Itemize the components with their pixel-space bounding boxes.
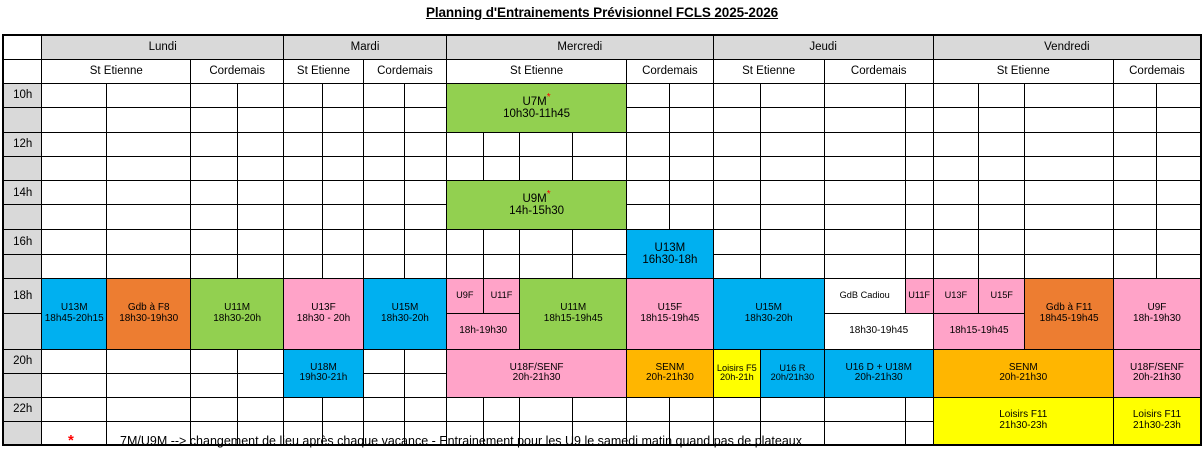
slot-row-12h-a: 12h xyxy=(3,132,1201,156)
cell-jeudi-co-2[interactable] xyxy=(905,180,933,205)
cell-vendredi-se-1[interactable] xyxy=(933,83,978,108)
event-mercredi-u9f-u11f-time[interactable]: 18h-19h30 xyxy=(446,314,519,350)
slot-row-18h-a: 18h U13M 18h45-20h15 Gdb à F8 18h30-19h3… xyxy=(3,279,1201,314)
cell-lundi-co-2[interactable] xyxy=(237,230,283,255)
cell-jeudi-co-1[interactable] xyxy=(824,205,905,230)
cell-lundi-se-2[interactable] xyxy=(107,230,191,255)
cell-lundi-co-2[interactable] xyxy=(237,108,283,133)
cell-vendredi-se-2[interactable] xyxy=(979,108,1025,133)
cell-mardi-co-2[interactable] xyxy=(404,83,446,108)
cell-vendredi-se-3[interactable] xyxy=(1025,156,1113,180)
cell-lundi-co-1[interactable] xyxy=(191,373,237,397)
cell-mardi-se-1[interactable] xyxy=(284,180,323,205)
corner-cell xyxy=(3,35,42,59)
day-header-mardi: Mardi xyxy=(284,35,447,59)
cell-mercredi-se-4[interactable] xyxy=(573,230,627,255)
cell-lundi-co-1[interactable] xyxy=(191,132,237,156)
cell-lundi-co-1[interactable] xyxy=(191,349,237,373)
cell-mardi-co-1[interactable] xyxy=(363,156,404,180)
cell-mercredi-co-2[interactable] xyxy=(670,83,713,108)
cell-mardi-co-2[interactable] xyxy=(404,254,446,279)
loc-lundi-cordemais: Cordemais xyxy=(191,59,284,83)
cell-lundi-co-2[interactable] xyxy=(237,156,283,180)
cell-vendredi-co-1[interactable] xyxy=(1113,205,1156,230)
loc-jeudi-cordemais: Cordemais xyxy=(824,59,933,83)
cell-lundi-se-2[interactable] xyxy=(107,180,191,205)
cell-mardi-se-1[interactable] xyxy=(284,254,323,279)
cell-mercredi-se-2[interactable] xyxy=(483,397,520,421)
cell-mardi-co-2[interactable] xyxy=(404,397,446,421)
cell-vendredi-co-1[interactable] xyxy=(1113,132,1156,156)
cell-jeudi-se-2[interactable] xyxy=(761,397,825,421)
cell-lundi-co-2[interactable] xyxy=(237,205,283,230)
cell-vendredi-co-1[interactable] xyxy=(1113,83,1156,108)
cell-mardi-co-1[interactable] xyxy=(363,205,404,230)
cell-mardi-co-1[interactable] xyxy=(363,254,404,279)
event-mercredi-u18f-senf[interactable]: U18F/SENF 20h-21h30 xyxy=(446,349,626,397)
time-label-22h: 22h xyxy=(3,397,42,421)
day-header-lundi: Lundi xyxy=(42,35,284,59)
event-jeudi-loisirs-f5[interactable]: Loisirs F5 20h-21h xyxy=(713,349,760,397)
cell-mardi-co-2[interactable] xyxy=(404,349,446,373)
cell-mardi-se-2[interactable] xyxy=(322,397,363,421)
slot-row-12h-b xyxy=(3,156,1201,180)
cell-lundi-se-2[interactable] xyxy=(107,132,191,156)
loc-mardi-cordemais: Cordemais xyxy=(363,59,446,83)
cell-mardi-co-2[interactable] xyxy=(404,108,446,133)
page-title: Planning d'Entrainements Prévisionnel FC… xyxy=(0,0,1204,20)
cell-mardi-co-1[interactable] xyxy=(363,83,404,108)
event-mercredi-u9f[interactable]: U9F xyxy=(446,279,483,314)
cell-lundi-se-1[interactable] xyxy=(42,108,107,133)
event-jeudi-u16r[interactable]: U16 R 20h/21h30 xyxy=(761,349,825,397)
cell-mardi-se-1[interactable] xyxy=(284,156,323,180)
cell-lundi-co-1[interactable] xyxy=(191,205,237,230)
cell-lundi-co-2[interactable] xyxy=(237,349,283,373)
cell-jeudi-se-2[interactable] xyxy=(761,254,825,279)
asterisk-marker-u9m: * xyxy=(547,189,551,200)
cell-jeudi-se-1[interactable] xyxy=(713,83,760,108)
slot-row-22h-a: 22h Loisirs F11 21h30-23h xyxy=(3,397,1201,421)
cell-mercredi-se-4[interactable] xyxy=(573,132,627,156)
cell-mercredi-co-1[interactable] xyxy=(627,156,670,180)
cell-mercredi-se-3[interactable] xyxy=(520,397,573,421)
cell-mercredi-se-4[interactable] xyxy=(573,156,627,180)
cell-jeudi-co-2[interactable] xyxy=(905,254,933,279)
cell-mercredi-se-3[interactable] xyxy=(520,132,573,156)
event-vendredi-u13f-u15f-time[interactable]: 18h15-19h45 xyxy=(933,314,1025,350)
cell-vendredi-se-2[interactable] xyxy=(979,180,1025,205)
event-lundi-u11m[interactable]: U11M 18h30-20h xyxy=(191,279,284,349)
schedule-table: Lundi Mardi Mercredi Jeudi Vendredi St E… xyxy=(2,34,1202,446)
cell-vendredi-co-2[interactable] xyxy=(1157,108,1201,133)
cell-vendredi-co-2[interactable] xyxy=(1157,83,1201,108)
cell-vendredi-co-2[interactable] xyxy=(1157,254,1201,279)
cell-mardi-se-1[interactable] xyxy=(284,205,323,230)
cell-mercredi-co-1[interactable] xyxy=(627,83,670,108)
event-mercredi-u11f[interactable]: U11F xyxy=(483,279,520,314)
event-vendredi-u18f-senf[interactable]: U18F/SENF 20h-21h30 xyxy=(1113,349,1201,397)
cell-mercredi-co-2[interactable] xyxy=(670,108,713,133)
cell-mercredi-co-1[interactable] xyxy=(627,132,670,156)
event-jeudi-gdb-cadiou[interactable]: GdB Cadiou xyxy=(824,279,905,314)
cell-mercredi-se-4[interactable] xyxy=(573,397,627,421)
cell-vendredi-co-1[interactable] xyxy=(1113,108,1156,133)
cell-lundi-co-2[interactable] xyxy=(237,83,283,108)
schedule-page: Planning d'Entrainements Prévisionnel FC… xyxy=(0,0,1204,462)
cell-vendredi-se-3[interactable] xyxy=(1025,180,1113,205)
slot-row-14h-a: 14h U9M* 14h-15h30 xyxy=(3,180,1201,205)
cell-mardi-se-1[interactable] xyxy=(284,83,323,108)
cell-lundi-co-1[interactable] xyxy=(191,230,237,255)
event-jeudi-u11f[interactable]: U11F xyxy=(905,279,933,314)
event-mercredi-senm[interactable]: SENM 20h-21h30 xyxy=(627,349,713,397)
cell-lundi-co-1[interactable] xyxy=(191,83,237,108)
cell-vendredi-se-1[interactable] xyxy=(933,108,978,133)
cell-mercredi-se-2[interactable] xyxy=(483,132,520,156)
cell-jeudi-co-1[interactable] xyxy=(824,397,905,421)
cell-vendredi-co-2[interactable] xyxy=(1157,132,1201,156)
cell-vendredi-co-2[interactable] xyxy=(1157,230,1201,255)
cell-jeudi-se-1[interactable] xyxy=(713,156,760,180)
cell-jeudi-co-1[interactable] xyxy=(824,156,905,180)
cell-mercredi-se-1[interactable] xyxy=(446,397,483,421)
asterisk-marker-u7m: * xyxy=(547,92,551,103)
corner-cell-2 xyxy=(3,59,42,83)
time-blank-6 xyxy=(3,373,42,397)
cell-lundi-se-1[interactable] xyxy=(42,205,107,230)
cell-lundi-se-1[interactable] xyxy=(42,373,107,397)
event-lundi-gdb-f8[interactable]: Gdb à F8 18h30-19h30 xyxy=(107,279,191,349)
cell-mercredi-se-4[interactable] xyxy=(573,254,627,279)
cell-vendredi-se-1[interactable] xyxy=(933,132,978,156)
cell-jeudi-se-2[interactable] xyxy=(761,156,825,180)
cell-mardi-co-1[interactable] xyxy=(363,349,404,373)
cell-mercredi-se-1[interactable] xyxy=(446,156,483,180)
cell-mardi-se-2[interactable] xyxy=(322,108,363,133)
day-header-jeudi: Jeudi xyxy=(713,35,933,59)
cell-jeudi-se-1[interactable] xyxy=(713,254,760,279)
cell-mercredi-co-1[interactable] xyxy=(627,205,670,230)
cell-lundi-se-2[interactable] xyxy=(107,373,191,397)
cell-jeudi-co-1[interactable] xyxy=(824,132,905,156)
cell-jeudi-co-2[interactable] xyxy=(905,205,933,230)
cell-mercredi-co-2[interactable] xyxy=(670,180,713,205)
cell-lundi-co-2[interactable] xyxy=(237,254,283,279)
cell-mardi-co-2[interactable] xyxy=(404,205,446,230)
cell-mercredi-se-2[interactable] xyxy=(483,156,520,180)
event-vendredi-u15f[interactable]: U15F xyxy=(979,279,1025,314)
cell-mardi-co-1[interactable] xyxy=(363,132,404,156)
event-mardi-u18m[interactable]: U18M 19h30-21h xyxy=(284,349,364,397)
cell-jeudi-co-1[interactable] xyxy=(824,108,905,133)
cell-vendredi-se-3[interactable] xyxy=(1025,108,1113,133)
loc-mardi-st-etienne: St Etienne xyxy=(284,59,364,83)
day-header-vendredi: Vendredi xyxy=(933,35,1201,59)
time-blank-5 xyxy=(3,314,42,350)
cell-vendredi-se-3[interactable] xyxy=(1025,132,1113,156)
cell-mardi-se-2[interactable] xyxy=(322,83,363,108)
event-vendredi-u9f[interactable]: U9F 18h-19h30 xyxy=(1113,279,1201,349)
cell-mercredi-se-3[interactable] xyxy=(520,156,573,180)
cell-vendredi-co-2[interactable] xyxy=(1157,180,1201,205)
cell-mardi-co-2[interactable] xyxy=(404,132,446,156)
cell-mardi-se-2[interactable] xyxy=(322,254,363,279)
time-label-20h: 20h xyxy=(3,349,42,373)
cell-vendredi-se-2[interactable] xyxy=(979,205,1025,230)
cell-lundi-co-1[interactable] xyxy=(191,108,237,133)
cell-mardi-se-2[interactable] xyxy=(322,180,363,205)
cell-lundi-co-1[interactable] xyxy=(191,156,237,180)
event-mardi-u15m[interactable]: U15M 18h30-20h xyxy=(363,279,446,349)
cell-vendredi-se-1[interactable] xyxy=(933,230,978,255)
cell-jeudi-se-2[interactable] xyxy=(761,83,825,108)
day-header-mercredi: Mercredi xyxy=(446,35,713,59)
cell-mardi-se-2[interactable] xyxy=(322,230,363,255)
cell-lundi-co-2[interactable] xyxy=(237,132,283,156)
cell-mercredi-co-2[interactable] xyxy=(670,205,713,230)
cell-mercredi-se-2[interactable] xyxy=(483,254,520,279)
slot-row-20h-a: 20h U18M 19h30-21h U18F/SENF 20h-21h30 xyxy=(3,349,1201,373)
cell-mardi-co-1[interactable] xyxy=(363,230,404,255)
time-blank-4 xyxy=(3,254,42,279)
cell-mardi-se-2[interactable] xyxy=(322,205,363,230)
event-jeudi-u16d-u18m[interactable]: U16 D + U18M 20h-21h30 xyxy=(824,349,933,397)
cell-vendredi-se-1[interactable] xyxy=(933,254,978,279)
event-mercredi-u13m[interactable]: U13M 16h30-18h xyxy=(627,230,713,279)
time-blank-3 xyxy=(3,205,42,230)
cell-jeudi-co-2[interactable] xyxy=(905,83,933,108)
cell-mardi-se-1[interactable] xyxy=(284,230,323,255)
cell-jeudi-se-2[interactable] xyxy=(761,230,825,255)
event-jeudi-gdb-u11f-time[interactable]: 18h30-19h45 xyxy=(824,314,933,350)
time-label-12h: 12h xyxy=(3,132,42,156)
loc-mercredi-st-etienne: St Etienne xyxy=(446,59,626,83)
event-mercredi-u7m[interactable]: U7M* 10h30-11h45 xyxy=(446,83,626,132)
cell-mercredi-se-3[interactable] xyxy=(520,254,573,279)
event-mercredi-u9m[interactable]: U9M* 14h-15h30 xyxy=(446,180,626,229)
event-mercredi-u11m[interactable]: U11M 18h15-19h45 xyxy=(520,279,627,349)
cell-mardi-co-1[interactable] xyxy=(363,108,404,133)
cell-jeudi-co-2[interactable] xyxy=(905,397,933,421)
cell-lundi-se-2[interactable] xyxy=(107,83,191,108)
loc-lundi-st-etienne: St Etienne xyxy=(42,59,191,83)
cell-mardi-se-1[interactable] xyxy=(284,132,323,156)
cell-mardi-co-2[interactable] xyxy=(404,230,446,255)
footnote: * 7M/U9M --> changement de lieu après ch… xyxy=(0,430,1204,460)
loc-mercredi-cordemais: Cordemais xyxy=(627,59,713,83)
cell-jeudi-se-2[interactable] xyxy=(761,132,825,156)
time-label-10h: 10h xyxy=(3,83,42,108)
loc-jeudi-st-etienne: St Etienne xyxy=(713,59,824,83)
cell-vendredi-se-3[interactable] xyxy=(1025,230,1113,255)
cell-jeudi-co-2[interactable] xyxy=(905,132,933,156)
cell-vendredi-co-1[interactable] xyxy=(1113,254,1156,279)
cell-lundi-se-1[interactable] xyxy=(42,254,107,279)
cell-lundi-se-2[interactable] xyxy=(107,254,191,279)
cell-vendredi-se-2[interactable] xyxy=(979,254,1025,279)
time-label-14h: 14h xyxy=(3,180,42,205)
cell-lundi-se-1[interactable] xyxy=(42,156,107,180)
cell-mardi-se-1[interactable] xyxy=(284,108,323,133)
cell-mercredi-se-2[interactable] xyxy=(483,230,520,255)
footnote-text: 7M/U9M --> changement de lieu après chaq… xyxy=(120,434,802,448)
cell-mercredi-co-1[interactable] xyxy=(627,397,670,421)
cell-lundi-se-2[interactable] xyxy=(107,349,191,373)
cell-jeudi-se-1[interactable] xyxy=(713,397,760,421)
time-blank-2 xyxy=(3,156,42,180)
cell-vendredi-co-2[interactable] xyxy=(1157,156,1201,180)
cell-jeudi-se-2[interactable] xyxy=(761,108,825,133)
event-vendredi-u13f[interactable]: U13F xyxy=(933,279,978,314)
cell-jeudi-se-1[interactable] xyxy=(713,108,760,133)
cell-mercredi-co-2[interactable] xyxy=(670,156,713,180)
event-mercredi-u15f[interactable]: U15F 18h15-19h45 xyxy=(627,279,713,349)
time-label-16h: 16h xyxy=(3,230,42,255)
event-vendredi-gdb-f11[interactable]: Gdb à F11 18h45-19h45 xyxy=(1025,279,1113,349)
cell-jeudi-co-1[interactable] xyxy=(824,230,905,255)
cell-jeudi-se-1[interactable] xyxy=(713,230,760,255)
loc-vendredi-cordemais: Cordemais xyxy=(1113,59,1201,83)
cell-vendredi-se-1[interactable] xyxy=(933,180,978,205)
cell-vendredi-co-1[interactable] xyxy=(1113,180,1156,205)
cell-vendredi-se-1[interactable] xyxy=(933,156,978,180)
slot-row-16h-b xyxy=(3,254,1201,279)
cell-mardi-co-2[interactable] xyxy=(404,373,446,397)
cell-mardi-se-2[interactable] xyxy=(322,156,363,180)
cell-lundi-co-2[interactable] xyxy=(237,180,283,205)
cell-mercredi-se-1[interactable] xyxy=(446,254,483,279)
cell-lundi-se-2[interactable] xyxy=(107,156,191,180)
cell-vendredi-se-2[interactable] xyxy=(979,230,1025,255)
cell-vendredi-co-1[interactable] xyxy=(1113,230,1156,255)
cell-jeudi-se-2[interactable] xyxy=(761,205,825,230)
cell-mercredi-se-3[interactable] xyxy=(520,230,573,255)
cell-mardi-co-2[interactable] xyxy=(404,180,446,205)
cell-vendredi-se-3[interactable] xyxy=(1025,254,1113,279)
cell-jeudi-se-2[interactable] xyxy=(761,180,825,205)
cell-lundi-co-2[interactable] xyxy=(237,373,283,397)
cell-vendredi-se-2[interactable] xyxy=(979,83,1025,108)
cell-lundi-se-1[interactable] xyxy=(42,83,107,108)
cell-mercredi-co-1[interactable] xyxy=(627,180,670,205)
event-mardi-u13f[interactable]: U13F 18h30 - 20h xyxy=(284,279,364,349)
cell-lundi-se-1[interactable] xyxy=(42,132,107,156)
cell-mardi-se-2[interactable] xyxy=(322,132,363,156)
cell-lundi-se-2[interactable] xyxy=(107,108,191,133)
cell-mardi-co-1[interactable] xyxy=(363,397,404,421)
cell-lundi-co-1[interactable] xyxy=(191,254,237,279)
cell-lundi-se-1[interactable] xyxy=(42,180,107,205)
cell-jeudi-se-1[interactable] xyxy=(713,180,760,205)
location-header-row: St Etienne Cordemais St Etienne Cordemai… xyxy=(3,59,1201,83)
cell-lundi-co-1[interactable] xyxy=(191,397,237,421)
cell-jeudi-co-1[interactable] xyxy=(824,83,905,108)
cell-mercredi-co-2[interactable] xyxy=(670,397,713,421)
cell-vendredi-se-3[interactable] xyxy=(1025,205,1113,230)
time-label-18h: 18h xyxy=(3,279,42,314)
cell-vendredi-co-1[interactable] xyxy=(1113,156,1156,180)
cell-vendredi-se-1[interactable] xyxy=(933,205,978,230)
event-jeudi-u15m[interactable]: U15M 18h30-20h xyxy=(713,279,824,349)
cell-jeudi-co-2[interactable] xyxy=(905,230,933,255)
cell-mercredi-se-1[interactable] xyxy=(446,230,483,255)
slot-row-10h-a: 10h U7M* 10h30-11h45 xyxy=(3,83,1201,108)
cell-jeudi-se-1[interactable] xyxy=(713,205,760,230)
cell-jeudi-co-2[interactable] xyxy=(905,156,933,180)
time-blank-1 xyxy=(3,108,42,133)
cell-mercredi-co-2[interactable] xyxy=(670,132,713,156)
cell-mardi-se-1[interactable] xyxy=(284,397,323,421)
cell-lundi-se-2[interactable] xyxy=(107,397,191,421)
cell-mardi-co-1[interactable] xyxy=(363,373,404,397)
cell-lundi-se-1[interactable] xyxy=(42,349,107,373)
cell-mercredi-co-1[interactable] xyxy=(627,108,670,133)
day-header-row: Lundi Mardi Mercredi Jeudi Vendredi xyxy=(3,35,1201,59)
cell-lundi-se-1[interactable] xyxy=(42,397,107,421)
cell-jeudi-se-1[interactable] xyxy=(713,132,760,156)
loc-vendredi-st-etienne: St Etienne xyxy=(933,59,1113,83)
cell-vendredi-se-2[interactable] xyxy=(979,132,1025,156)
cell-jeudi-co-1[interactable] xyxy=(824,180,905,205)
cell-jeudi-co-1[interactable] xyxy=(824,254,905,279)
cell-lundi-co-1[interactable] xyxy=(191,180,237,205)
slot-row-16h-a: 16h U13M 16h30-18h xyxy=(3,230,1201,255)
cell-mercredi-se-1[interactable] xyxy=(446,132,483,156)
footnote-asterisk: * xyxy=(68,432,74,449)
cell-lundi-se-1[interactable] xyxy=(42,230,107,255)
event-vendredi-senm[interactable]: SENM 20h-21h30 xyxy=(933,349,1113,397)
cell-jeudi-co-2[interactable] xyxy=(905,108,933,133)
cell-lundi-se-2[interactable] xyxy=(107,205,191,230)
cell-lundi-co-2[interactable] xyxy=(237,397,283,421)
cell-vendredi-se-2[interactable] xyxy=(979,156,1025,180)
event-lundi-u13m[interactable]: U13M 18h45-20h15 xyxy=(42,279,107,349)
cell-vendredi-co-2[interactable] xyxy=(1157,205,1201,230)
cell-mardi-co-1[interactable] xyxy=(363,180,404,205)
cell-vendredi-se-3[interactable] xyxy=(1025,83,1113,108)
cell-mardi-co-2[interactable] xyxy=(404,156,446,180)
